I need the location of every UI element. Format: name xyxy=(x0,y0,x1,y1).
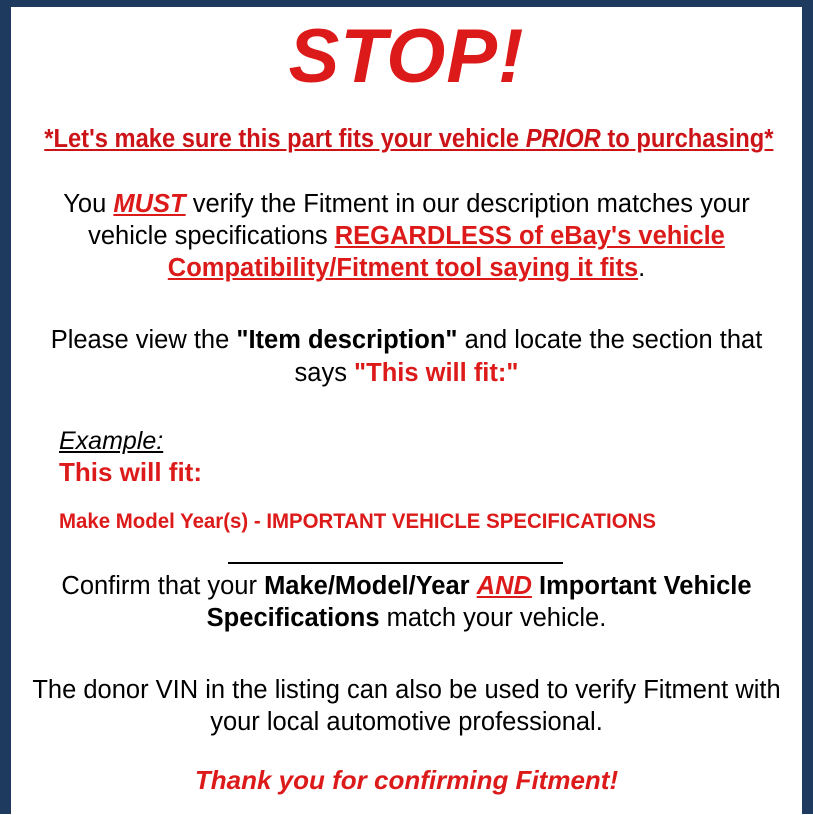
closing-thank-you: Thank you for confirming Fitment! xyxy=(17,765,796,796)
subtitle-text-after: to purchasing* xyxy=(601,125,774,153)
example-spec-line: Make Model Year(s) - IMPORTANT VEHICLE S… xyxy=(59,509,759,535)
confirm-space-2 xyxy=(532,572,539,600)
paragraph-must-verify: You MUST verify the Fitment in our descr… xyxy=(17,188,796,284)
emphasis-must: MUST xyxy=(113,190,185,218)
confirm-space-1 xyxy=(470,572,477,600)
divider-wrapper xyxy=(17,556,796,570)
emphasis-make-model-year: Make/Model/Year xyxy=(264,572,470,600)
subtitle-text-before: *Let's make sure this part fits your veh… xyxy=(44,125,525,153)
example-label: Example: xyxy=(59,427,163,457)
fitment-subtitle: *Let's make sure this part fits your veh… xyxy=(44,125,768,153)
emphasis-and: AND xyxy=(477,572,532,600)
example-block: Example: This will fit: Make Model Year(… xyxy=(17,427,796,535)
paragraph-donor-vin: The donor VIN in the listing can also be… xyxy=(17,674,796,738)
paragraph-item-description: Please view the "Item description" and l… xyxy=(17,324,796,388)
emphasis-item-description: "Item description" xyxy=(236,326,457,354)
subtitle-emphasis-prior: PRIOR xyxy=(526,125,601,153)
paragraph-confirm: Confirm that your Make/Model/Year AND Im… xyxy=(17,570,796,634)
confirm-text-lead: Confirm that your xyxy=(61,572,264,600)
stop-headline: STOP! xyxy=(17,19,796,95)
confirm-text-tail: match your vehicle. xyxy=(380,604,607,632)
itemdesc-text-lead: Please view the xyxy=(51,326,237,354)
horizontal-divider xyxy=(228,562,563,564)
emphasis-this-will-fit: "This will fit:" xyxy=(354,359,518,387)
must-text-period: . xyxy=(638,254,645,282)
fitment-notice-frame: STOP! *Let's make sure this part fits yo… xyxy=(0,0,813,814)
example-fit-heading: This will fit: xyxy=(59,457,796,488)
fitment-notice-body: STOP! *Let's make sure this part fits yo… xyxy=(11,19,802,815)
example-label-row: Example: xyxy=(59,427,796,457)
must-text-lead: You xyxy=(63,190,113,218)
